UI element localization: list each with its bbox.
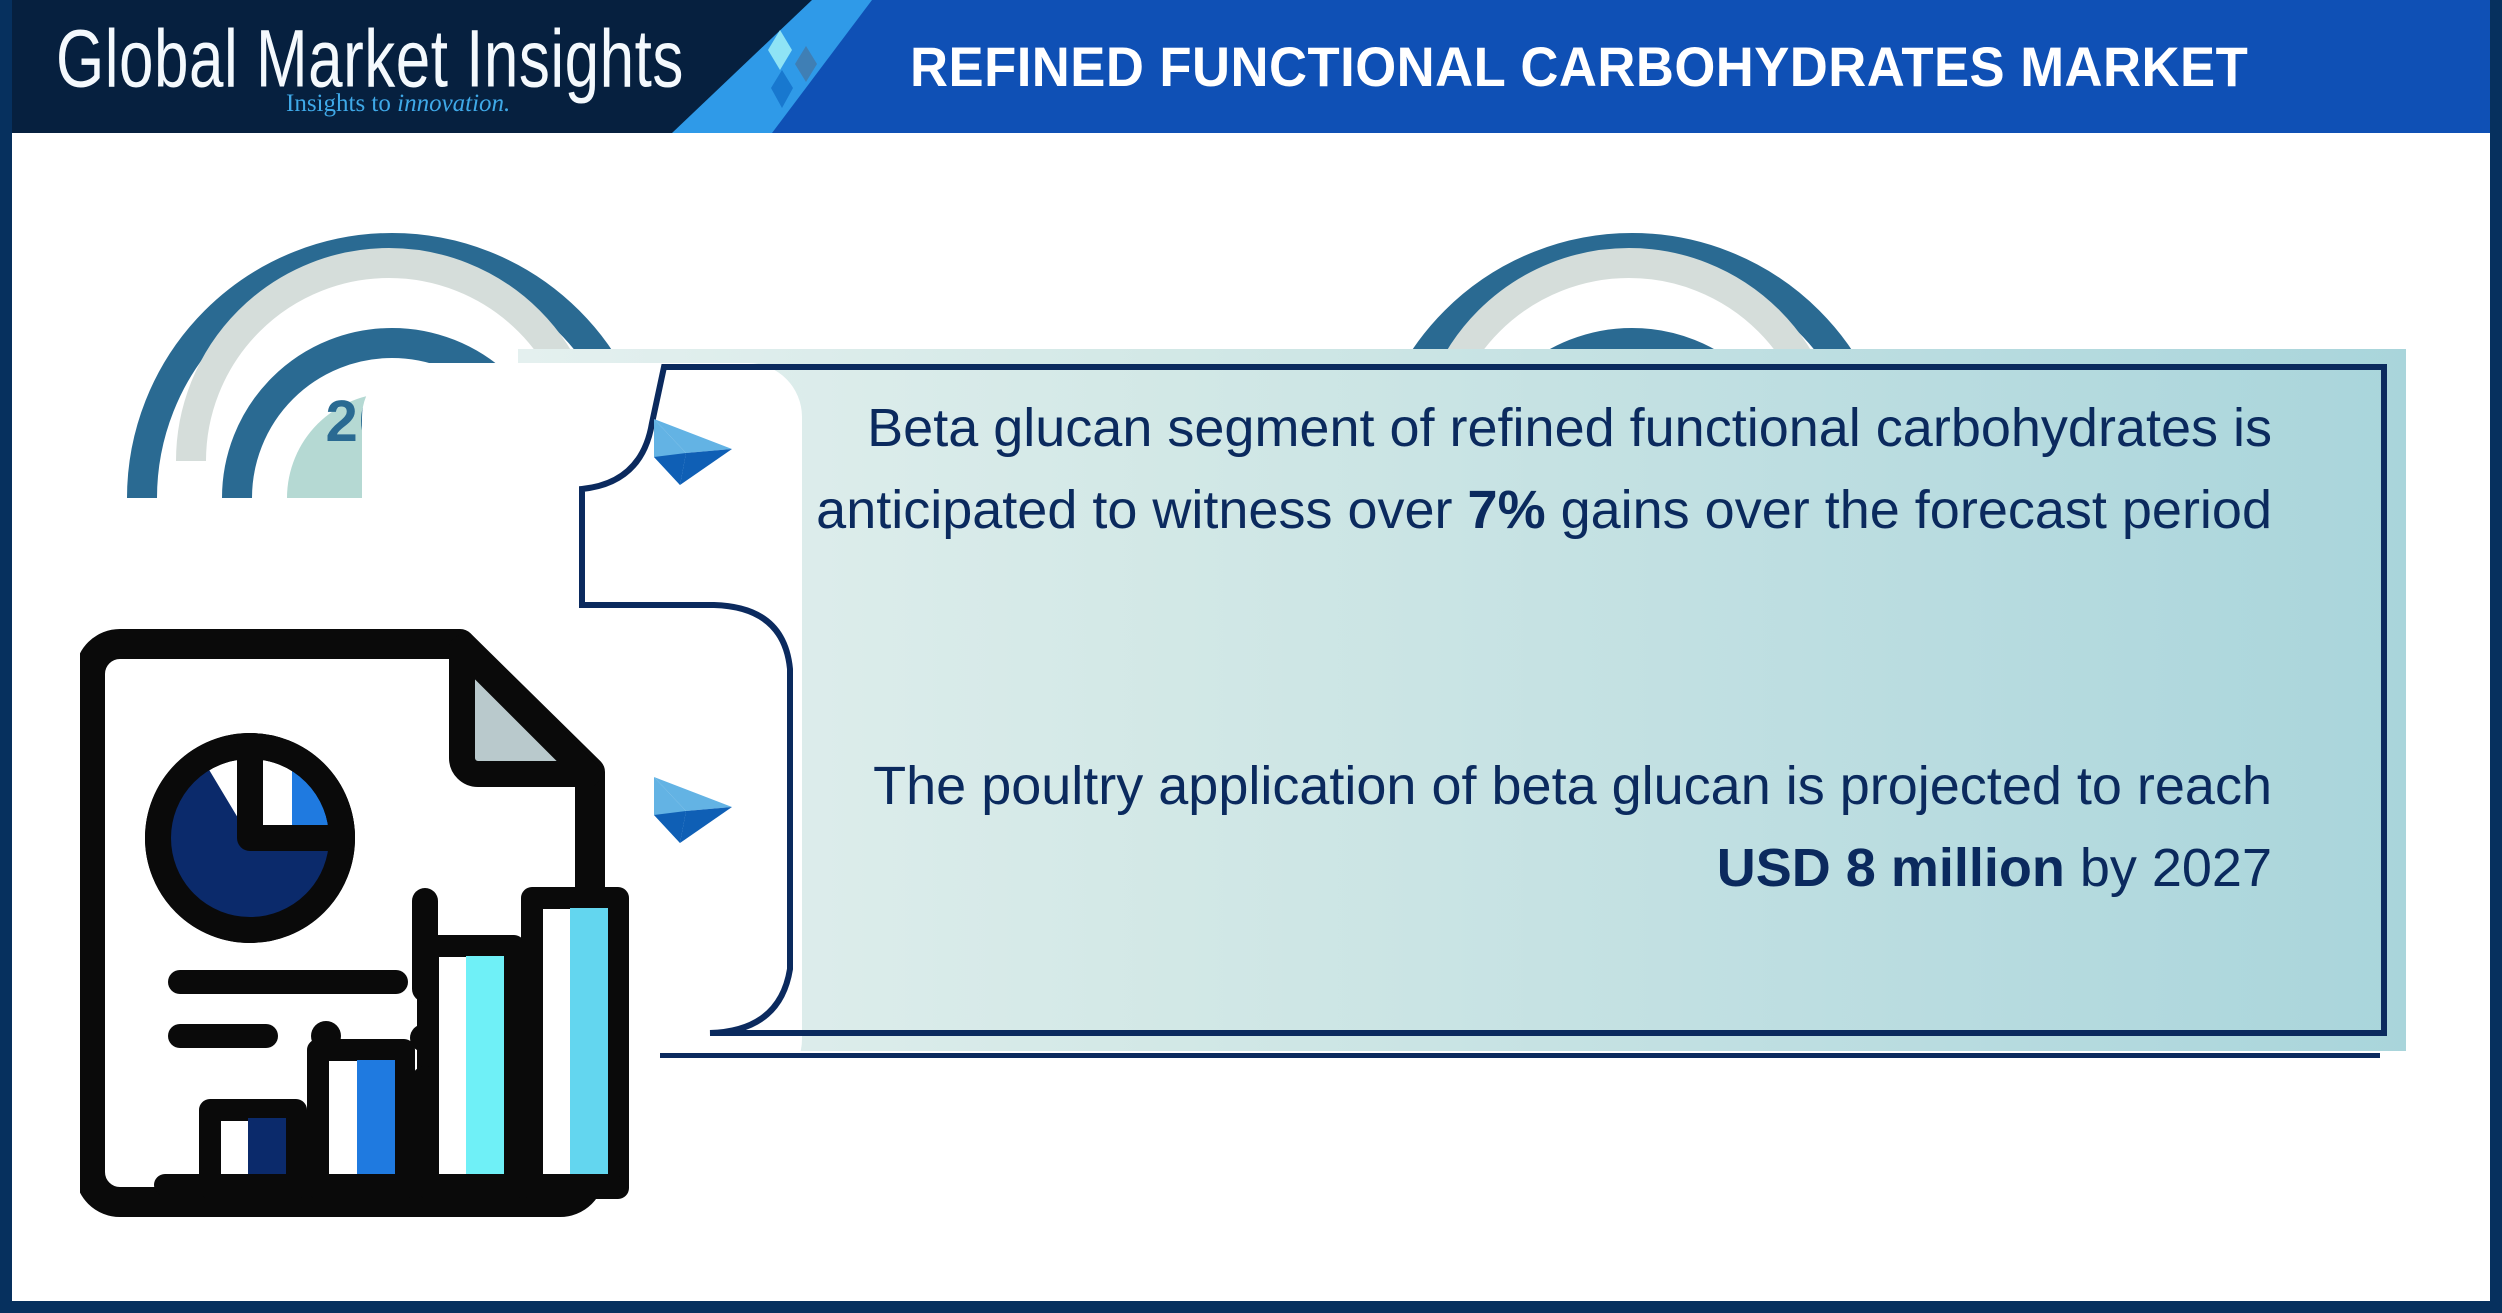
infographic-inner-frame: Global Market Insights Insights to innov… [12,0,2490,1301]
list-item: Beta glucan segment of refined functiona… [652,387,2372,551]
infographic-page: Global Market Insights Insights to innov… [0,0,2502,1313]
page-title: REFINED FUNCTIONAL CARBOHYDRATES MARKET [910,0,2248,133]
bullet-segment: The poultry application of beta glucan i… [873,756,2272,816]
bullet-arrow-icon [652,745,752,850]
logo-tagline-italic: innovation. [397,90,510,117]
bullet-segment-bold: USD 8 million [1717,838,2065,898]
body-area: 2020 >$220 MN [12,133,2490,1301]
list-item: The poultry application of beta glucan i… [652,745,2372,909]
logo-tagline-plain: Insights to [286,90,397,117]
bullet-arrow-icon [652,387,752,492]
bullet-segment: gains over the forecast period [1546,480,2272,540]
brand-logo: Global Market Insights Insights to innov… [56,14,756,122]
insights-divider [660,1053,2380,1058]
bullet-segment: by 2027 [2065,838,2272,898]
logo-tagline: Insights to innovation. [286,90,510,118]
three-diamonds-logo-icon [762,26,822,116]
report-document-with-pie-and-bar-chart-icon [80,598,660,1218]
list-item-text: The poultry application of beta glucan i… [752,745,2372,909]
bullet-segment-bold: 7% [1468,480,1546,540]
list-item-text: Beta glucan segment of refined functiona… [752,387,2372,551]
header-bar: Global Market Insights Insights to innov… [12,0,2490,133]
insights-list: Beta glucan segment of refined functiona… [652,373,2372,1033]
